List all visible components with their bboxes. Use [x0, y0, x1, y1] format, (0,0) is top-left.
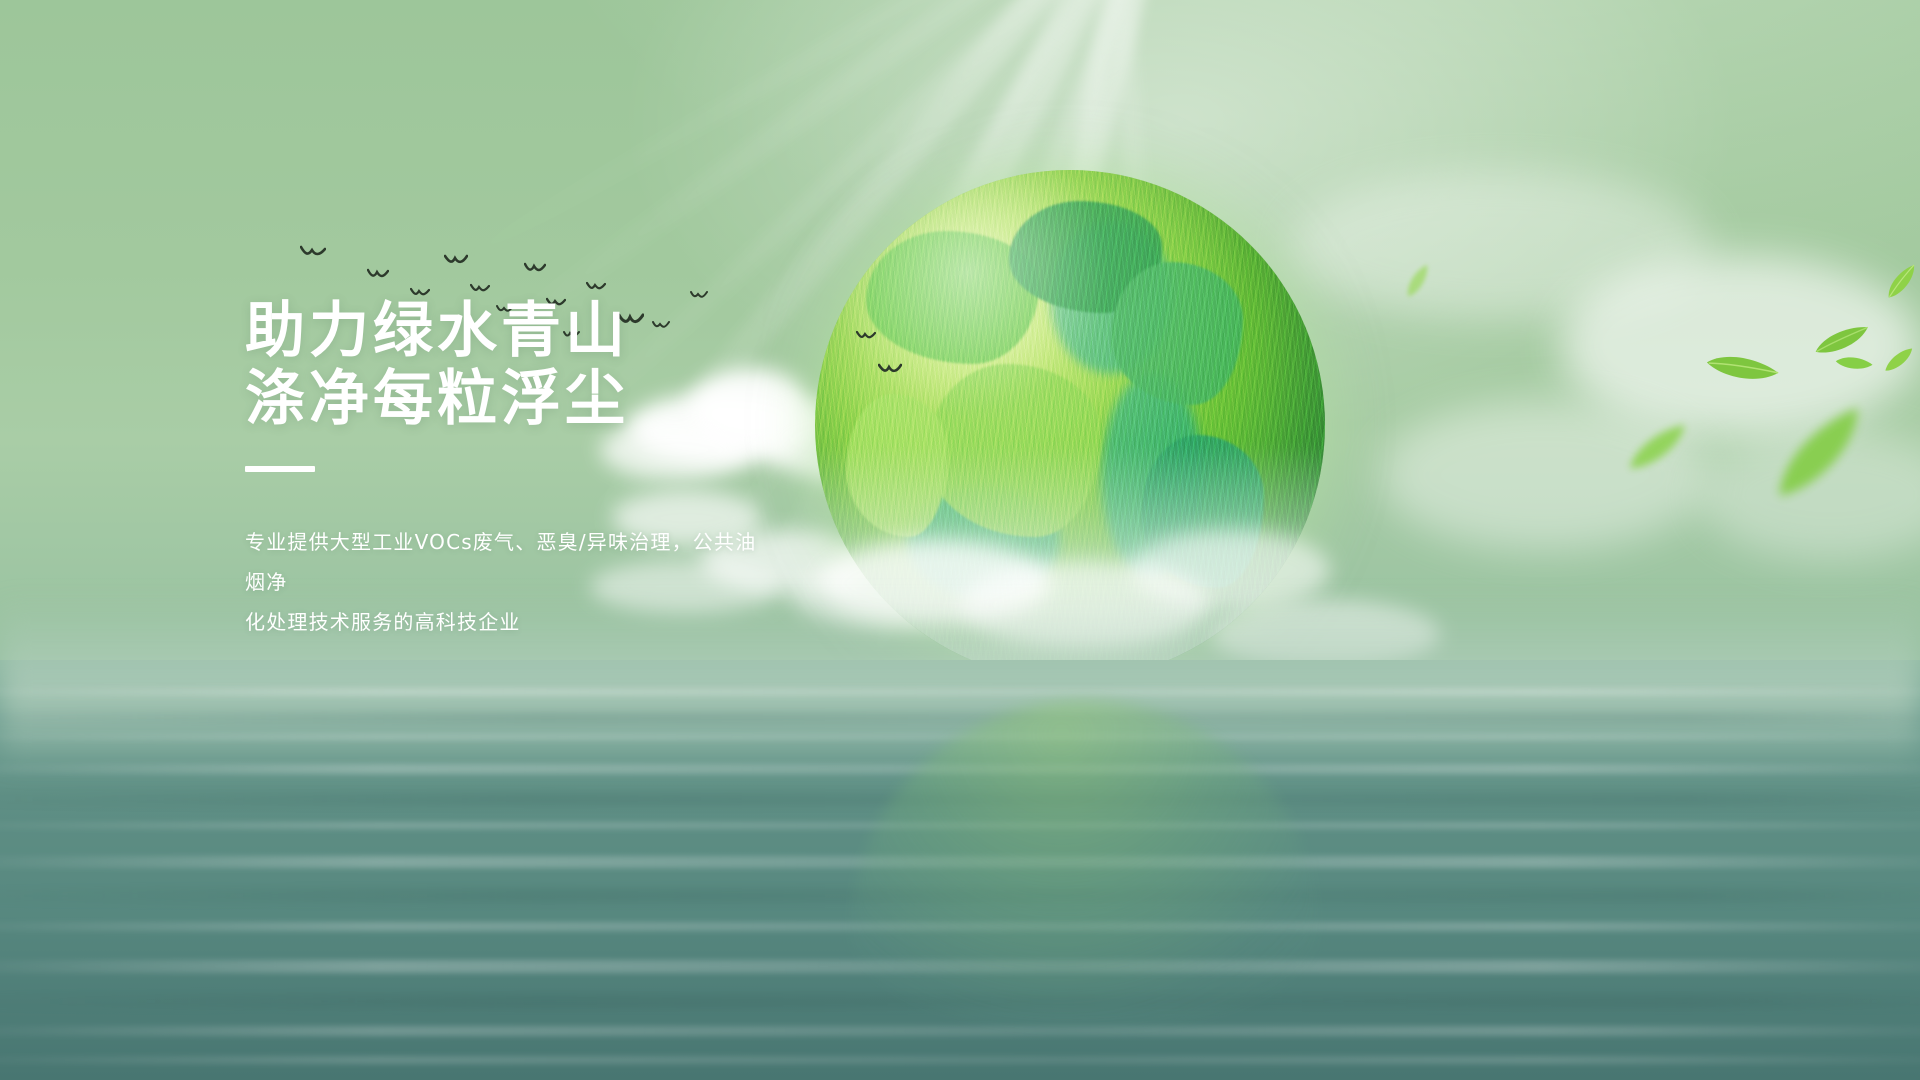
flying-birds-flock-icon: [300, 245, 326, 259]
flying-birds-flock-icon: [367, 268, 389, 281]
headline-line-2: 涤净每粒浮尘: [245, 366, 865, 434]
headline-line-1: 助力绿水青山: [245, 298, 865, 366]
title-divider: [245, 466, 315, 472]
cloud-icon: [1380, 400, 1710, 550]
hero-copy-block: 助力绿水青山 涤净每粒浮尘 专业提供大型工业VOCs废气、恶臭/异味治理，公共油…: [245, 298, 865, 662]
hero-banner: 助力绿水青山 涤净每粒浮尘 专业提供大型工业VOCs废气、恶臭/异味治理，公共油…: [0, 0, 1920, 1080]
page-title: 助力绿水青山 涤净每粒浮尘: [245, 298, 865, 434]
hero-subtitle: 专业提供大型工业VOCs废气、恶臭/异味治理，公共油烟净 化处理技术服务的高科技…: [245, 522, 770, 642]
flying-birds-flock-icon: [524, 262, 546, 275]
flying-birds-flock-icon: [444, 253, 468, 267]
flying-birds-flock-icon: [470, 283, 490, 295]
subtitle-line-2: 化处理技术服务的高科技企业: [245, 602, 770, 642]
subtitle-line-1: 专业提供大型工业VOCs废气、恶臭/异味治理，公共油烟净: [245, 522, 770, 602]
flying-birds-flock-icon: [878, 362, 902, 376]
flying-birds-flock-icon: [586, 281, 606, 293]
cloud-icon: [1130, 530, 1330, 610]
